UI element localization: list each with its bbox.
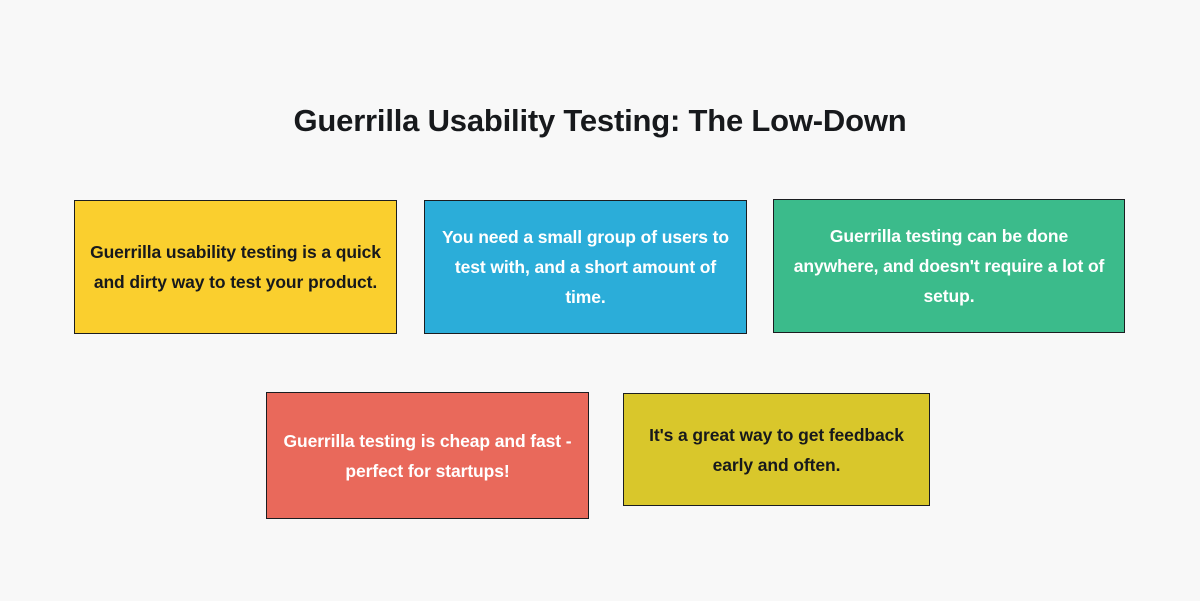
concept-card-location[interactable]: Guerrilla testing can be done anywhere, … bbox=[773, 199, 1125, 333]
concept-card-text: It's a great way to get feedback early a… bbox=[638, 420, 915, 480]
concept-card-text: You need a small group of users to test … bbox=[439, 222, 732, 312]
concept-card-feedback[interactable]: It's a great way to get feedback early a… bbox=[623, 393, 930, 506]
page-title: Guerrilla Usability Testing: The Low-Dow… bbox=[0, 99, 1200, 143]
slide-canvas: Guerrilla Usability Testing: The Low-Dow… bbox=[0, 0, 1200, 601]
concept-card-text: Guerrilla testing is cheap and fast - pe… bbox=[281, 426, 574, 486]
concept-card-text: Guerrilla testing can be done anywhere, … bbox=[788, 221, 1110, 311]
concept-card-participants[interactable]: You need a small group of users to test … bbox=[424, 200, 747, 334]
concept-card-definition[interactable]: Guerrilla usability testing is a quick a… bbox=[74, 200, 397, 334]
concept-card-text: Guerrilla usability testing is a quick a… bbox=[89, 237, 382, 297]
concept-card-cost[interactable]: Guerrilla testing is cheap and fast - pe… bbox=[266, 392, 589, 519]
